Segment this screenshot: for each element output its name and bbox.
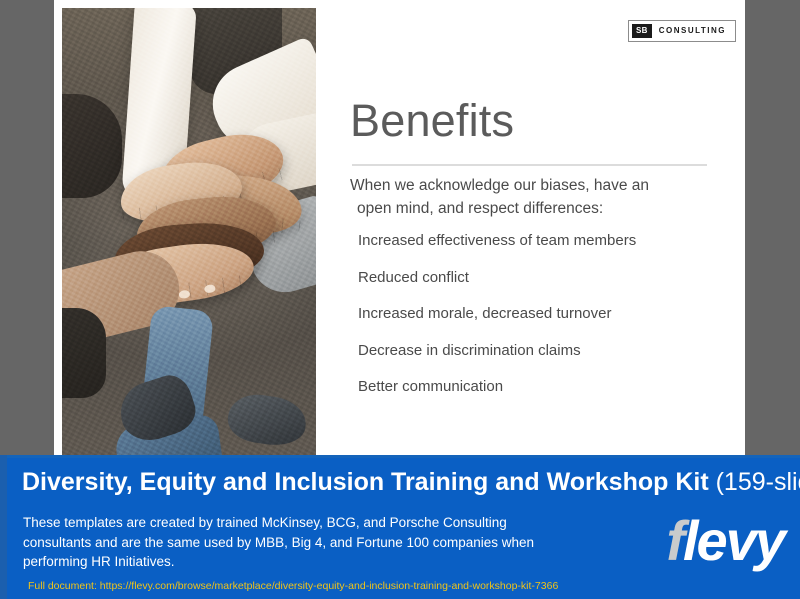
benefits-list: Increased effectiveness of team members … [358, 232, 708, 415]
slide-subtitle-line-2: open mind, and respect differences: [350, 197, 696, 220]
title-divider [352, 164, 707, 166]
slide-subtitle-line-1: When we acknowledge our biases, have an [350, 177, 649, 194]
banner-left-edge [0, 455, 7, 599]
list-item: Decrease in discrimination claims [358, 342, 708, 360]
list-item: Increased morale, decreased turnover [358, 305, 708, 323]
list-item: Increased effectiveness of team members [358, 232, 708, 250]
flevy-logo-rest: levy [683, 509, 784, 572]
photo-texture-overlay [62, 8, 316, 455]
flevy-logo-f: f [666, 509, 683, 572]
list-item: Reduced conflict [358, 269, 708, 287]
document-title-main: Diversity, Equity and Inclusion Training… [22, 468, 716, 496]
document-title: Diversity, Equity and Inclusion Training… [22, 469, 800, 497]
screenshot-stage: SB CONSULTING Benefits When we acknowled… [0, 0, 800, 599]
banner-top-edge [0, 455, 800, 458]
document-slide-count: (159-slide [716, 468, 800, 496]
teamwork-hands-photo [62, 8, 316, 455]
document-url[interactable]: Full document: https://flevy.com/browse/… [28, 581, 558, 592]
list-item: Better communication [358, 378, 708, 396]
slide-subtitle: When we acknowledge our biases, have an … [350, 174, 696, 221]
presentation-slide: SB CONSULTING Benefits When we acknowled… [54, 0, 745, 455]
slide-title: Benefits [350, 98, 514, 143]
slide-content: Benefits When we acknowledge our biases,… [350, 0, 745, 455]
document-description: These templates are created by trained M… [23, 513, 563, 572]
flevy-logo[interactable]: flevy [666, 513, 784, 569]
promo-banner: Diversity, Equity and Inclusion Training… [0, 455, 800, 599]
